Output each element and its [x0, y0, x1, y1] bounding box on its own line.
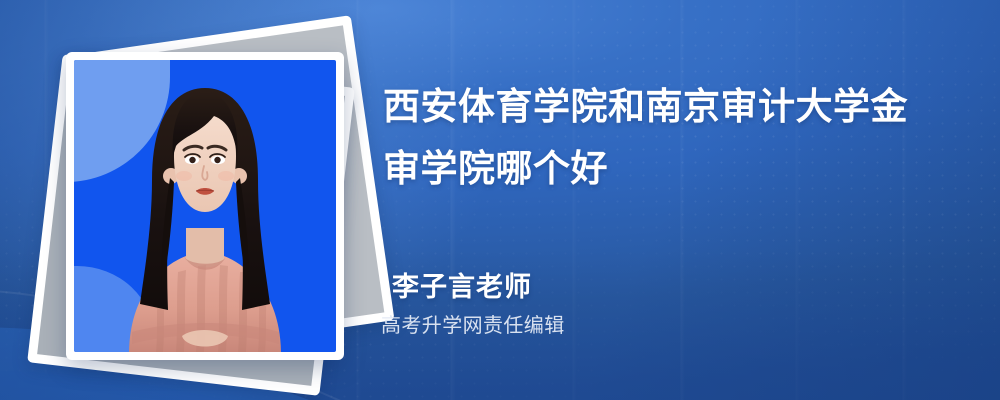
author-role: 高考升学网责任编辑	[381, 313, 781, 339]
cover-text-content: 西安体育学院和南京审计大学金审学院哪个好 李子言老师 高考升学网责任编辑	[381, 0, 971, 400]
photo-stack	[48, 30, 358, 370]
page-title: 西安体育学院和南京审计大学金审学院哪个好	[383, 76, 943, 200]
photo-frame	[66, 52, 344, 360]
article-cover-card: 西安体育学院和南京审计大学金审学院哪个好 李子言老师 高考升学网责任编辑	[0, 0, 1000, 400]
author-portrait-photo	[74, 60, 336, 352]
photo-inner	[74, 60, 336, 352]
author-block: 李子言老师 高考升学网责任编辑	[381, 270, 781, 339]
author-name: 李子言老师	[381, 270, 781, 304]
